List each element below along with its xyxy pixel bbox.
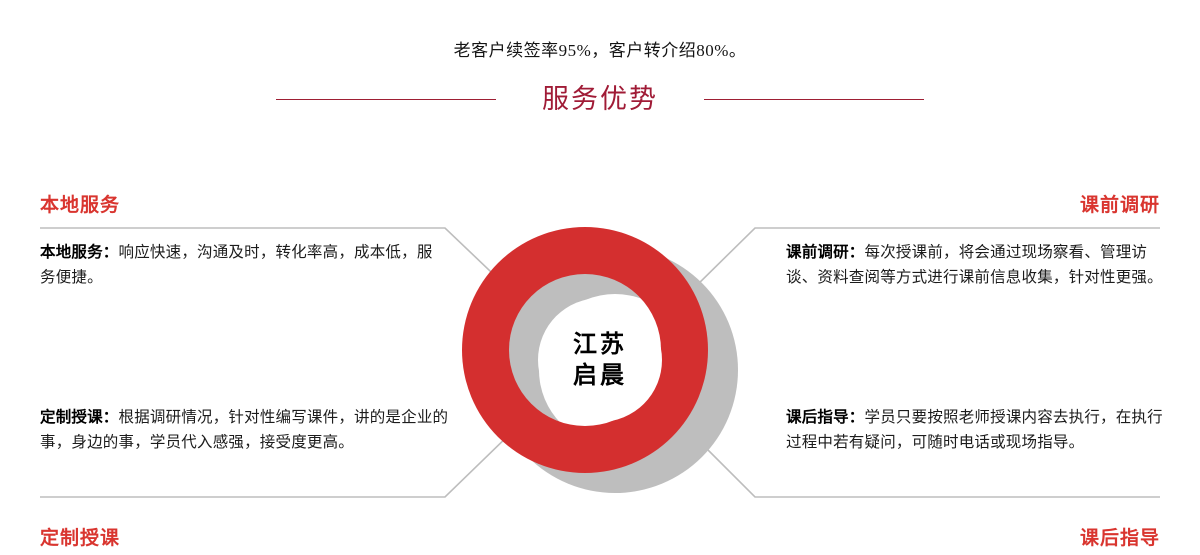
corner-label-bottom-left: 定制授课	[40, 523, 120, 550]
section-title-row: 服务优势	[0, 78, 1200, 120]
text-block-local-service: 本地服务：响应快速，沟通及时，转化率高，成本低，服务便捷。	[40, 240, 440, 290]
corner-label-top-left: 本地服务	[40, 190, 120, 217]
text-block-pre-class-research: 课前调研：每次授课前，将会通过现场察看、管理访谈、资料查阅等方式进行课前信息收集…	[786, 240, 1166, 290]
headline-stat: 老客户续签率95%，客户转介绍80%。	[0, 36, 1200, 61]
section-rule-left	[276, 99, 496, 100]
interlocking-rings-logo: 江苏 启晨	[455, 215, 745, 505]
rings-svg	[455, 215, 745, 505]
corner-label-top-right: 课前调研	[1080, 190, 1160, 217]
ring-center-disc	[538, 298, 662, 422]
text-block-custom-teaching: 定制授课：根据调研情况，针对性编写课件，讲的是企业的事，身边的事，学员代入感强，…	[40, 405, 455, 455]
section-rule-right	[704, 99, 924, 100]
corner-label-bottom-right: 课后指导	[1080, 523, 1160, 550]
text-block-post-class-guidance-label: 课后指导：	[786, 409, 865, 426]
text-block-post-class-guidance: 课后指导：学员只要按照老师授课内容去执行，在执行过程中若有疑问，可随时电话或现场…	[786, 405, 1166, 455]
section-title: 服务优势	[542, 86, 658, 113]
text-block-custom-teaching-label: 定制授课：	[40, 409, 119, 426]
text-block-pre-class-research-label: 课前调研：	[786, 244, 865, 261]
text-block-local-service-label: 本地服务：	[40, 244, 119, 261]
